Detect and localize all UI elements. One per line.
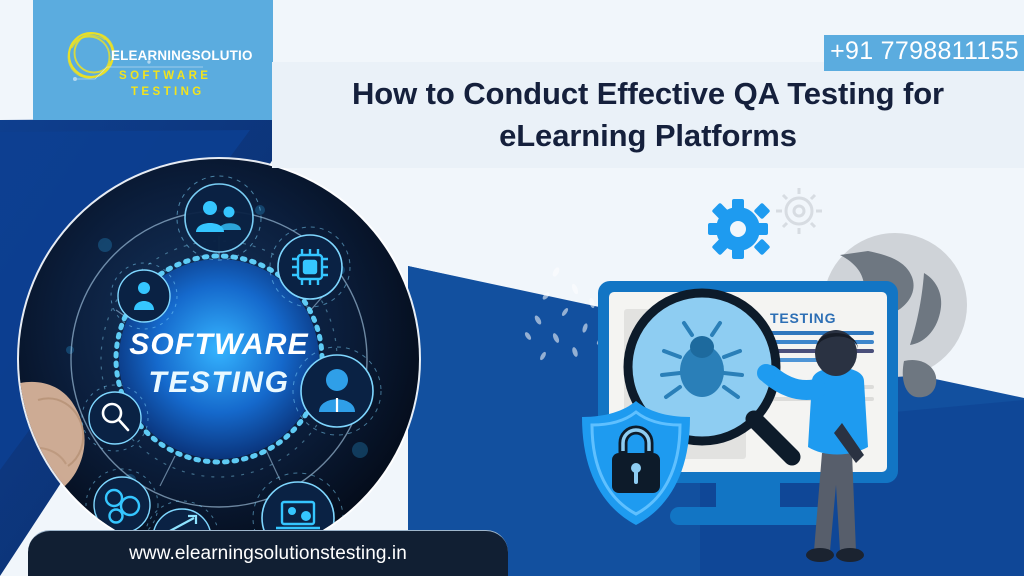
website-url-bar[interactable]: www.elearningsolutionstesting.in	[28, 530, 508, 576]
center-label-line2: TESTING	[148, 366, 289, 399]
logo-ring-icon	[69, 33, 114, 78]
gear-small-icon	[776, 188, 822, 234]
software-testing-circle-graphic: SOFTWARE TESTING	[10, 150, 428, 568]
center-label-line1: SOFTWARE	[129, 328, 309, 361]
phone-number-badge[interactable]: +91 7798811155	[824, 35, 1024, 71]
logo-brand-text: ELEARNINGSOLUTIONS	[111, 48, 253, 63]
logo-tagline-line1: SOFTWARE	[119, 70, 211, 82]
qa-testing-illustration: TESTING	[520, 185, 1024, 576]
screen-testing-label: TESTING	[770, 310, 836, 326]
banner-canvas: SOFTWARE TESTING	[0, 0, 1024, 576]
company-logo: ELEARNINGSOLUTIONS SOFTWARE TESTING	[33, 0, 273, 120]
title-panel: How to Conduct Effective QA Testing for …	[272, 62, 1024, 168]
website-url-text: www.elearningsolutionstesting.in	[129, 543, 407, 565]
gear-icon	[708, 199, 770, 259]
title-line-2: eLearning Platforms	[499, 118, 797, 153]
shield-lock-icon	[582, 401, 690, 525]
logo-tagline-line2: TESTING	[131, 86, 205, 98]
logo-mark: ELEARNINGSOLUTIONS SOFTWARE TESTING	[53, 15, 253, 105]
title-line-1: How to Conduct Effective QA Testing for	[352, 76, 944, 111]
page-title: How to Conduct Effective QA Testing for …	[308, 73, 988, 157]
